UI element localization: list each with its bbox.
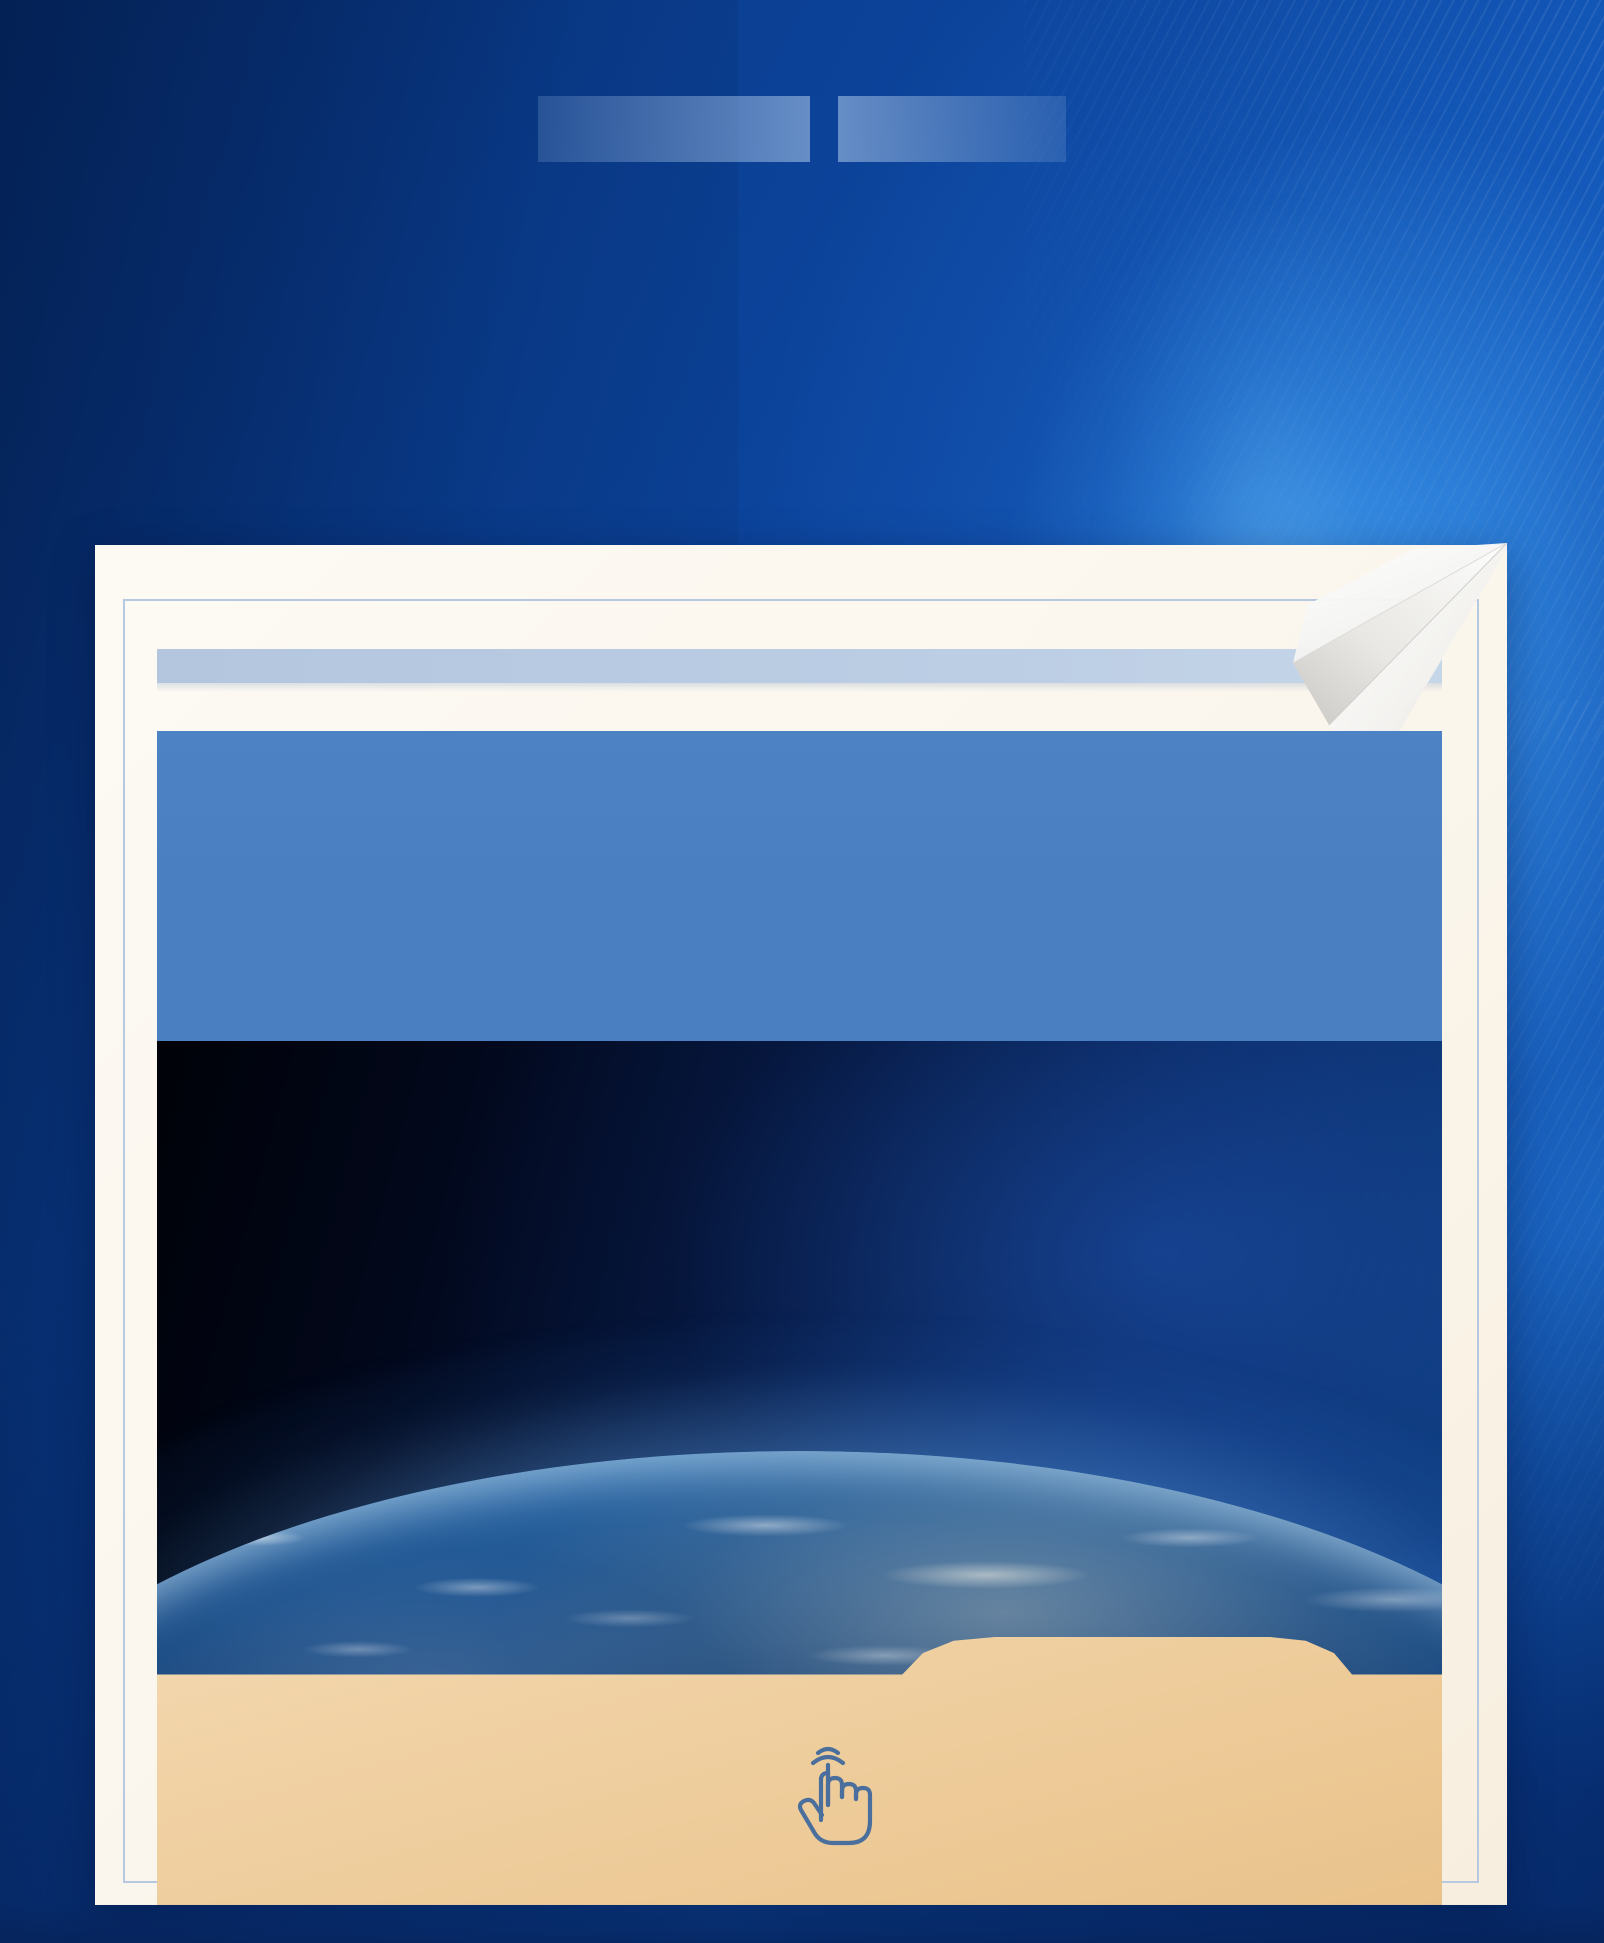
headline-block [157,731,1442,1041]
content-card[interactable] [95,545,1507,1905]
cta-row[interactable] [157,1637,1442,1905]
card-accent-band-shadow [157,683,1442,692]
cta-folder-tab[interactable] [157,1637,1442,1905]
timeline-space-image [157,1041,1442,1741]
page-bottom-shade [0,1903,1604,1943]
title-bar-right [838,96,1066,162]
timeline-markers [157,1041,1442,1741]
tap-hand-icon[interactable] [782,1743,874,1851]
card-accent-band [157,649,1442,683]
poster-root [0,0,1604,1943]
title-row [0,96,1604,162]
title-bar-left [538,96,810,162]
